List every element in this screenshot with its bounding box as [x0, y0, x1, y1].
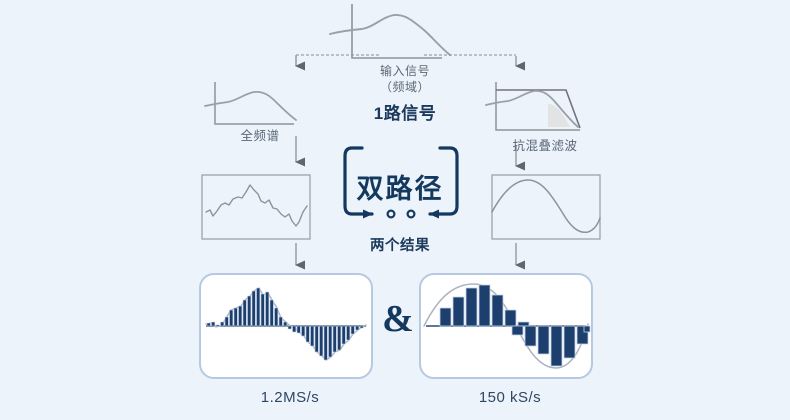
chart-clean-sine-trace: [492, 175, 600, 239]
chart-input-spectrum: [330, 4, 450, 58]
result-dot-left: [388, 211, 395, 218]
full-spectrum-label: 全频谱: [195, 125, 325, 144]
sample-rate-left-label: 1.2MS/s: [210, 389, 370, 406]
result-dot-right: [408, 211, 415, 218]
sample-rate-right-label: 150 kS/s: [430, 389, 590, 406]
input-signal-label-line1: 输入信号: [325, 63, 485, 79]
input-signal-label-line2: （频域）: [325, 79, 485, 95]
input-signal-label: 输入信号 （频域）: [325, 63, 485, 95]
dual-path-label: 双路径: [340, 167, 460, 206]
one-channel-label: 1路信号: [325, 99, 485, 124]
panel-high-rate-sampling: [200, 274, 372, 378]
ampersand-symbol: &: [375, 297, 421, 341]
chart-full-spectrum: [205, 82, 296, 124]
chart-anti-alias-filter: [486, 82, 580, 130]
chart-noisy-time-trace: [202, 175, 310, 239]
two-results-label: 两个结果: [340, 234, 460, 255]
anti-alias-filter-label: 抗混叠滤波: [470, 135, 620, 154]
diagram-canvas: 输入信号 （频域） 1路信号 全频谱 抗混叠滤波 双路径 两个结果 & 1.2M…: [0, 0, 790, 420]
panel-low-rate-sampling: [420, 274, 592, 378]
